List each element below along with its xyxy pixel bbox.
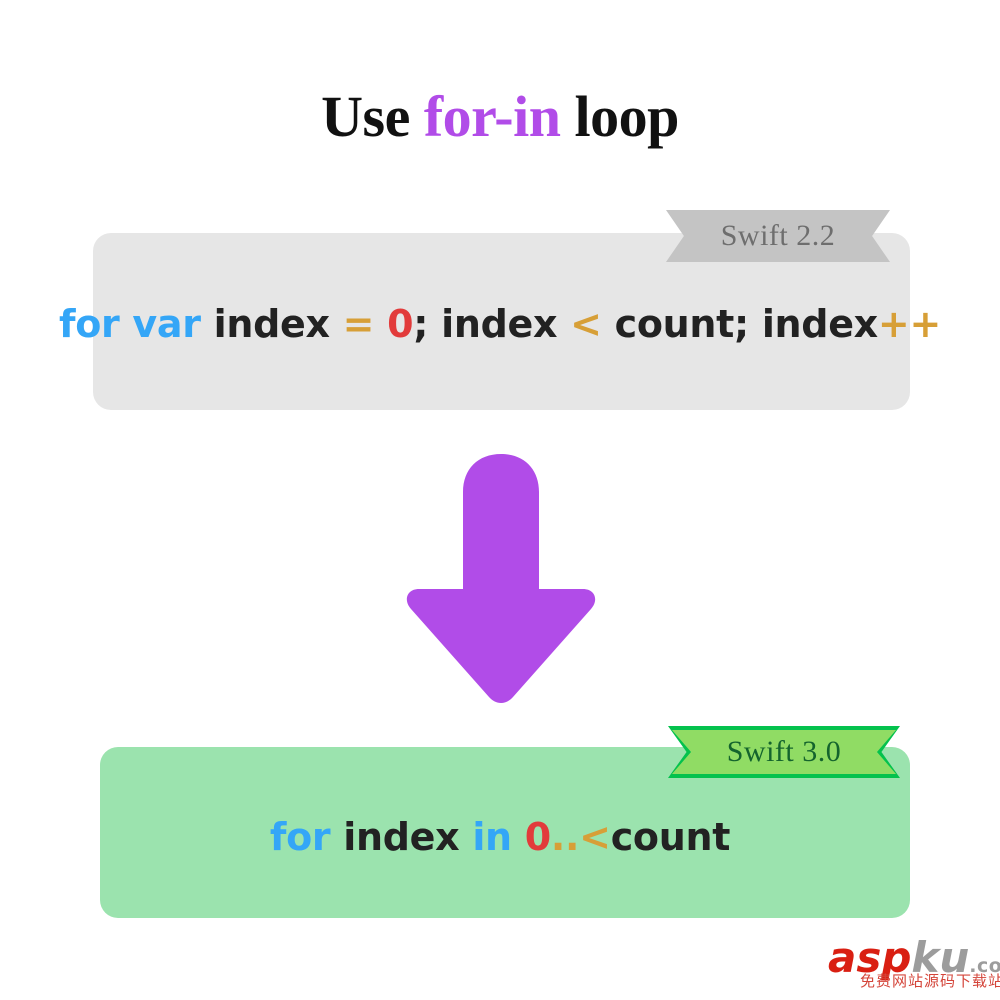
code-token-punc-11: [557, 302, 570, 346]
page-title-suffix: loop: [560, 84, 678, 149]
code-token-punc-13: [602, 302, 615, 346]
version-badge-swift-3-0: Swift 3.0: [672, 730, 896, 774]
code-token-kw-0: for: [59, 302, 119, 346]
code-token-punc-1: [330, 815, 343, 859]
code-token-punc-15: ;: [734, 302, 762, 346]
code-token-punc-3: [201, 302, 214, 346]
code-token-kw-0: for: [270, 815, 330, 859]
code-token-id-10: index: [441, 302, 557, 346]
code-token-id-9: count: [611, 815, 730, 859]
code-token-op-7: ..: [551, 815, 579, 859]
code-token-punc-7: [374, 302, 387, 346]
code-token-num-6: 0: [525, 815, 551, 859]
code-token-op-8: <: [579, 815, 611, 859]
code-token-id-14: count: [615, 302, 734, 346]
watermark-tagline: 免费网站源码下载站!: [860, 970, 1000, 991]
code-token-punc-1: [119, 302, 132, 346]
page-title-accent: for-in: [424, 84, 561, 149]
code-token-kw-4: in: [472, 815, 511, 859]
version-badge-swift-2-2: Swift 2.2: [666, 210, 890, 262]
code-token-punc-9: ;: [413, 302, 441, 346]
code-token-punc-5: [330, 302, 343, 346]
code-text-swift-3-0: for index in 0..<count: [0, 813, 1000, 861]
version-badge-label: Swift 3.0: [727, 735, 842, 769]
code-token-num-8: 0: [387, 302, 413, 346]
version-badge-label: Swift 2.2: [721, 219, 836, 253]
code-text-swift-2-2: for var index = 0; index < count; index+…: [0, 300, 1000, 348]
page-title-prefix: Use: [321, 84, 424, 149]
code-token-id-16: index: [762, 302, 878, 346]
code-token-id-4: index: [214, 302, 330, 346]
code-token-op-17: ++: [878, 302, 941, 346]
watermark-logo: aspku.com 免费网站源码下载站!: [828, 936, 996, 994]
page-title: Use for-in loop: [0, 86, 1000, 148]
code-token-kw-2: var: [132, 302, 200, 346]
arrow-down-icon: [405, 452, 597, 704]
code-token-op-6: =: [343, 302, 375, 346]
code-token-punc-3: [459, 815, 472, 859]
code-token-punc-5: [512, 815, 525, 859]
code-token-id-2: index: [343, 815, 459, 859]
code-token-op-12: <: [570, 302, 602, 346]
